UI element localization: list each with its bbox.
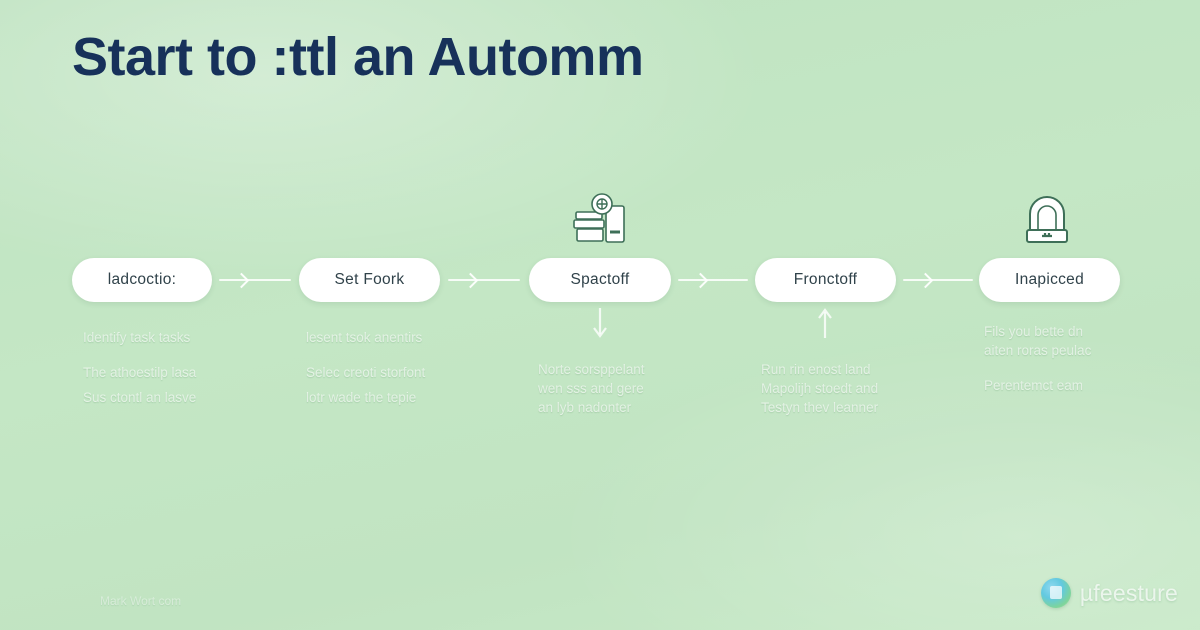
sub-line: The athoestilp lasa	[83, 363, 298, 382]
infographic-canvas: Start to :ttl an Automm ladcoctio:	[0, 0, 1200, 630]
flow-step-2-description: lesent tsok anentirs Selec creoti storfo…	[306, 328, 521, 423]
sub-line: Mapolijh stoedt and	[761, 379, 976, 398]
flow-step-4-label: Fronctoff	[794, 271, 858, 289]
flow-step-1[interactable]: ladcoctio:	[72, 258, 212, 302]
sub-line: Testyn thev leanner	[761, 398, 976, 417]
arrow-down-icon	[589, 306, 611, 340]
flow-step-5-label: Inapicced	[1015, 271, 1084, 289]
brand-name: µfeesture	[1080, 580, 1178, 607]
flow-step-5-description: Fils you bette dn aiten roras peulac Per…	[984, 322, 1199, 411]
gradient-circle-logo-icon	[1041, 578, 1071, 608]
arrow-right-icon-4	[903, 279, 973, 282]
sub-line: wen sss and gere	[538, 379, 753, 398]
sub-line: Perentemct eam	[984, 376, 1199, 395]
arrow-right-icon-3	[678, 279, 748, 282]
sub-line: Selec creoti storfont	[306, 363, 521, 382]
flow-step-1-label: ladcoctio:	[108, 271, 176, 289]
flow-step-3-description: Norte sorsppelant wen sss and gere an ly…	[538, 360, 753, 417]
flow-row: ladcoctio: Set Foork Spactoff Fronctoff …	[0, 258, 1200, 304]
sub-line: lotr wade the tepie	[306, 388, 521, 407]
flow-step-5[interactable]: Inapicced	[979, 258, 1120, 302]
sub-line: Sus ctontl an lasve	[83, 388, 298, 407]
brand-logo: µfeesture	[1041, 578, 1178, 608]
flow-step-4-description: Run rin enost land Mapolijh stoedt and T…	[761, 360, 976, 417]
flow-step-2-label: Set Foork	[335, 271, 405, 289]
sub-line: Run rin enost land	[761, 360, 976, 379]
flow-step-3[interactable]: Spactoff	[529, 258, 671, 302]
documents-stack-icon	[566, 190, 638, 254]
flow-step-3-label: Spactoff	[571, 271, 630, 289]
flow-step-2[interactable]: Set Foork	[299, 258, 440, 302]
sub-line: Fils you bette dn	[984, 322, 1199, 341]
sub-line: aiten roras peulac	[984, 341, 1199, 360]
sub-line: lesent tsok anentirs	[306, 328, 521, 347]
footer-attribution: Mark Wort com	[100, 594, 181, 608]
arrow-up-icon	[814, 306, 836, 340]
flow-step-1-description: Identify task tasks The athoestilp lasa …	[83, 328, 298, 423]
page-title: Start to :ttl an Automm	[72, 26, 643, 90]
arrow-right-icon-2	[448, 279, 520, 282]
sub-line: Norte sorsppelant	[538, 360, 753, 379]
lock-arch-icon	[1018, 192, 1090, 256]
arrow-right-icon-1	[219, 279, 291, 282]
sub-line: Identify task tasks	[83, 328, 298, 347]
sub-line: an lyb nadonter	[538, 398, 753, 417]
flow-step-4[interactable]: Fronctoff	[755, 258, 896, 302]
